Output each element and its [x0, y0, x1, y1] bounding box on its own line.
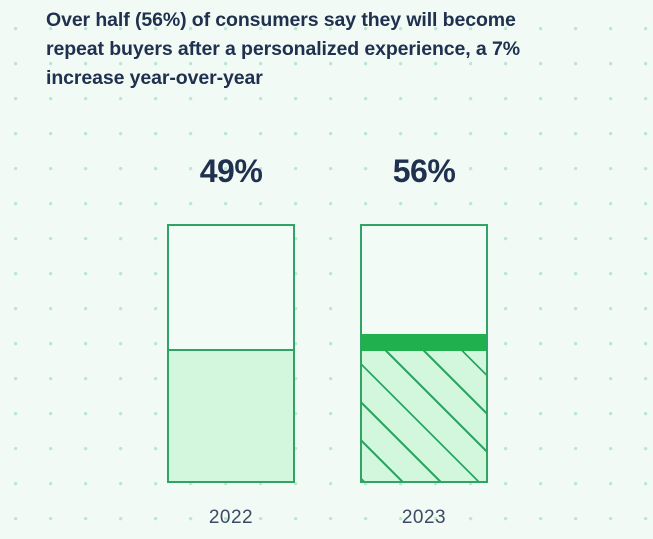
bar-2023 [360, 224, 488, 483]
category-label-2022: 2022 [167, 507, 295, 529]
bar-fill-2022 [169, 349, 293, 481]
bar-value-label-2023: 56% [360, 152, 488, 190]
infographic-canvas: Over half (56%) of consumers say they wi… [0, 0, 653, 539]
bar-increase-band-2023 [362, 334, 486, 351]
bar-chart-plot-area: 49% 2022 56% 2023 [0, 0, 653, 539]
bar-2022 [167, 224, 295, 483]
bar-hatched-base-2023 [362, 351, 486, 481]
category-label-2023: 2023 [360, 507, 488, 529]
bar-value-label-2022: 49% [167, 152, 295, 190]
